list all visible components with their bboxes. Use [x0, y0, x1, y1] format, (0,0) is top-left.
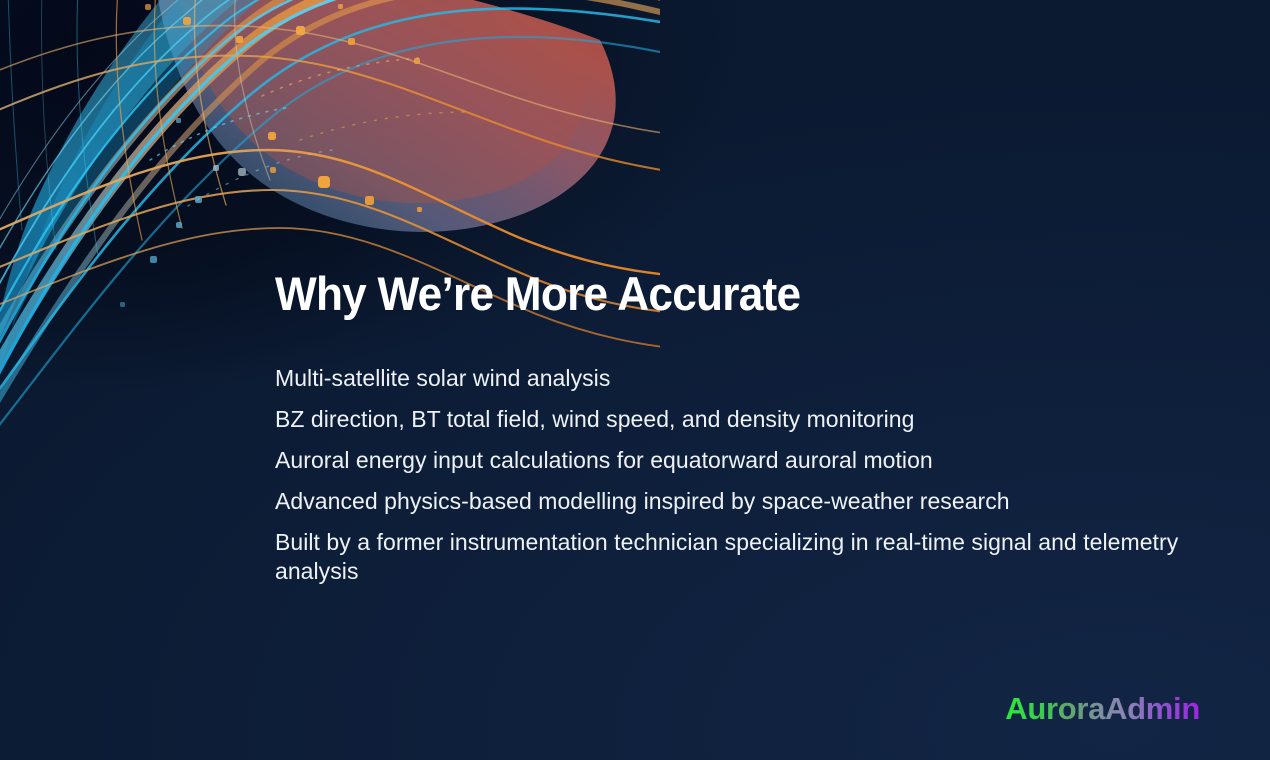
list-item: Built by a former instrumentation techni… [275, 528, 1180, 586]
page-title: Why We’re More Accurate [275, 268, 1140, 320]
slide-canvas: Why We’re More Accurate Multi-satellite … [0, 0, 1270, 760]
list-item: Multi-satellite solar wind analysis [275, 364, 1180, 393]
brand-logo: AuroraAdmin [1005, 693, 1200, 724]
brand-logo-text: AuroraAdmin [1005, 691, 1200, 726]
list-item: Auroral energy input calculations for eq… [275, 446, 1180, 475]
feature-list: Multi-satellite solar wind analysis BZ d… [275, 364, 1195, 586]
slide-content: Why We’re More Accurate Multi-satellite … [275, 268, 1195, 586]
list-item: BZ direction, BT total field, wind speed… [275, 405, 1180, 434]
list-item: Advanced physics-based modelling inspire… [275, 487, 1180, 516]
